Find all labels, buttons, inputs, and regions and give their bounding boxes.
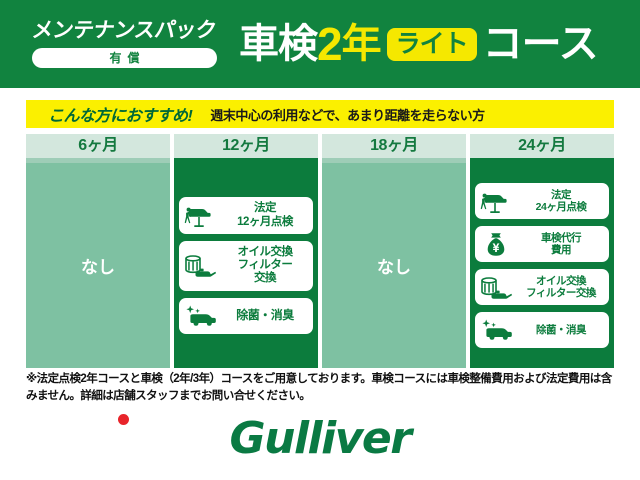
service-item-label: 法定12ヶ月点検	[221, 202, 309, 228]
service-item: 法定24ヶ月点検	[475, 183, 609, 219]
column-header: 12ヶ月	[174, 134, 318, 158]
service-item: オイル交換フィルター交換	[475, 269, 609, 305]
schedule-column-0: 6ヶ月なし	[26, 134, 170, 368]
header-title-year: 年	[342, 24, 381, 64]
no-service-label: なし	[81, 253, 115, 278]
recommendation-sub: 週末中心の利用などで、あまり距離を走らない方	[210, 105, 484, 124]
header-title-course: コース	[483, 24, 598, 64]
no-service-label: なし	[377, 253, 411, 278]
paid-badge-label: 有償	[103, 52, 145, 64]
service-item-label: オイル交換フィルター交換	[517, 275, 605, 299]
maintenance-pack-poster: メンテナンスパック 有償 車検 2 年 ライト コース こんな方におすすめ! 週…	[0, 0, 640, 480]
service-item: 車検代行費用	[475, 226, 609, 262]
column-header: 24ヶ月	[470, 134, 614, 158]
oil-filter-can-icon	[183, 253, 217, 279]
paid-badge: 有償	[32, 48, 217, 68]
column-header-label: 12ヶ月	[222, 138, 270, 154]
header-banner: メンテナンスパック 有償 車検 2 年 ライト コース	[0, 0, 640, 88]
column-header-label: 24ヶ月	[518, 138, 566, 154]
oil-filter-can-icon	[479, 274, 513, 300]
service-item: 除菌・消臭	[179, 298, 313, 334]
header-title-number: 2	[317, 21, 342, 67]
brand-logo-dot	[118, 414, 129, 425]
column-header: 18ヶ月	[322, 134, 466, 158]
column-body: なし	[26, 163, 170, 368]
column-header-label: 6ヶ月	[78, 138, 117, 154]
recommendation-banner: こんな方におすすめ! 週末中心の利用などで、あまり距離を走らない方	[26, 100, 614, 128]
maintenance-schedule-table: 6ヶ月なし12ヶ月法定12ヶ月点検オイル交換フィルター交換除菌・消臭18ヶ月なし…	[26, 134, 614, 368]
header-title-group: 車検 2 年 ライト コース	[239, 21, 640, 67]
service-item: 法定12ヶ月点検	[179, 197, 313, 233]
service-item-label: オイル交換フィルター交換	[221, 246, 309, 286]
schedule-column-1: 12ヶ月法定12ヶ月点検オイル交換フィルター交換除菌・消臭	[174, 134, 318, 368]
column-body: 法定24ヶ月点検車検代行費用オイル交換フィルター交換除菌・消臭	[470, 163, 614, 368]
footnote-text: ※法定点検2年コースと車検（2年/3年）コースをご用意しております。車検コースに…	[26, 371, 618, 404]
column-header-label: 18ヶ月	[370, 138, 418, 154]
service-item: オイル交換フィルター交換	[179, 241, 313, 291]
column-body: なし	[322, 163, 466, 368]
brand-logo: Gulliver	[0, 415, 640, 463]
service-item: 除菌・消臭	[475, 312, 609, 348]
brand-logo-text: Gulliver	[230, 417, 411, 461]
column-body: 法定12ヶ月点検オイル交換フィルター交換除菌・消臭	[174, 163, 318, 368]
schedule-column-2: 18ヶ月なし	[322, 134, 466, 368]
light-course-badge-label: ライト	[396, 32, 468, 57]
car-lift-inspection-icon	[183, 203, 217, 229]
car-sparkle-icon	[479, 317, 513, 343]
money-bag-yen-icon	[479, 231, 513, 257]
header-title-shaken: 車検	[239, 24, 317, 64]
column-header: 6ヶ月	[26, 134, 170, 158]
maintenance-pack-title: メンテナンスパック	[31, 20, 218, 41]
service-item-label: 法定24ヶ月点検	[517, 189, 605, 213]
header-left-group: メンテナンスパック 有償	[12, 20, 237, 68]
recommendation-lead: こんな方におすすめ!	[48, 102, 192, 126]
car-lift-inspection-icon	[479, 188, 513, 214]
service-item-label: 除菌・消臭	[517, 324, 605, 336]
service-item-label: 車検代行費用	[517, 232, 605, 256]
car-sparkle-icon	[183, 303, 217, 329]
schedule-column-3: 24ヶ月法定24ヶ月点検車検代行費用オイル交換フィルター交換除菌・消臭	[470, 134, 614, 368]
light-course-badge: ライト	[387, 28, 477, 61]
service-item-label: 除菌・消臭	[221, 309, 309, 323]
